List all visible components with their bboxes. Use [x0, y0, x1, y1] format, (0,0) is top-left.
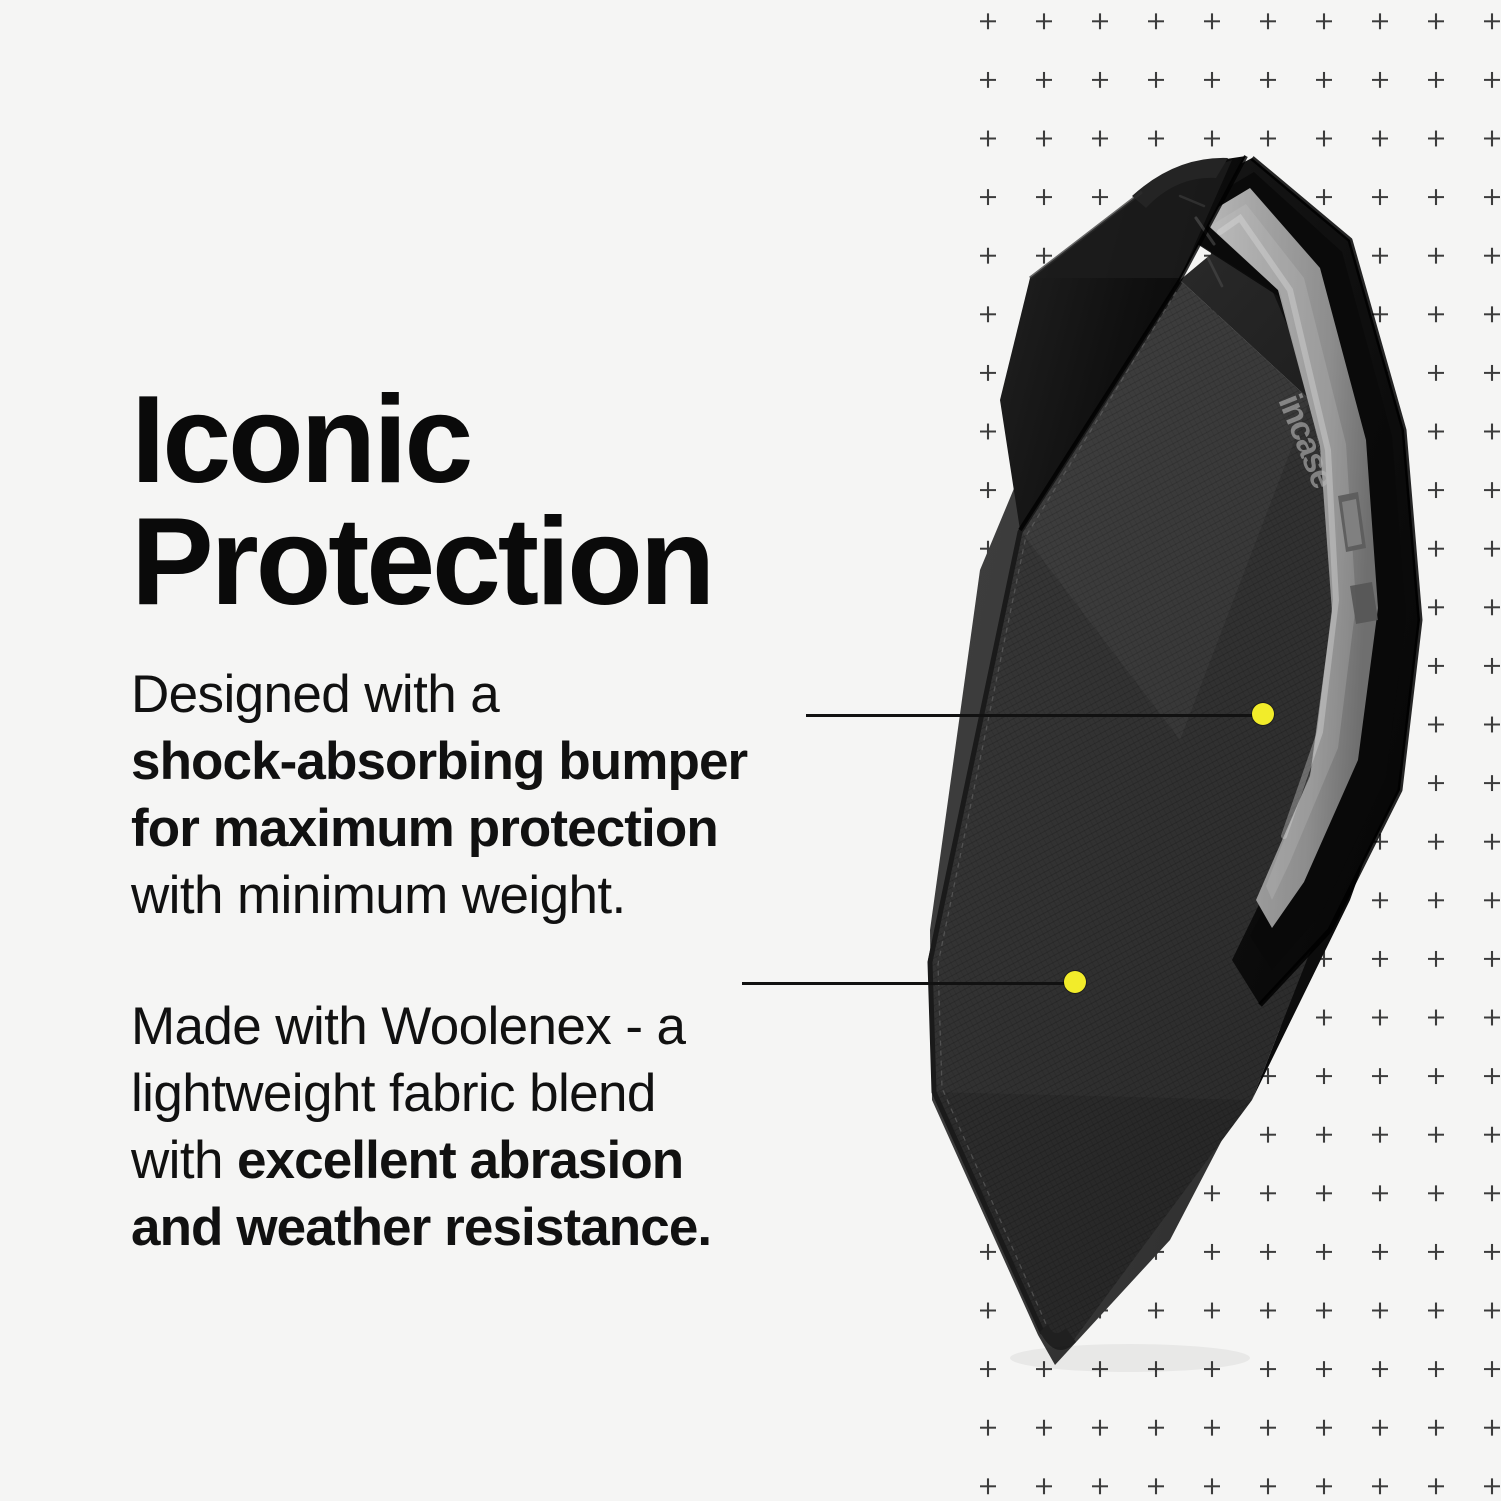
- paragraph-1-line-1: Designed with a: [131, 661, 831, 728]
- paragraph-1-line-4: with minimum weight.: [131, 862, 831, 929]
- callout-dot-bumper: [1252, 703, 1274, 725]
- product-image: incase: [880, 100, 1480, 1400]
- headline-line-2: Protection: [131, 501, 851, 623]
- product-feature-graphic: incase Iconic Protection Designed with a…: [0, 0, 1501, 1501]
- paragraph-2-line-1: Made with Woolenex - a: [131, 993, 831, 1060]
- plus-grid-background: [960, 0, 1501, 1501]
- paragraph-2-line-2: lightweight fabric blend: [131, 1060, 831, 1127]
- paragraph-1-line-2: shock-absorbing bumper: [131, 728, 831, 795]
- feature-paragraph-bumper: Designed with a shock-absorbing bumper f…: [131, 661, 831, 929]
- paragraph-1-line-3: for maximum protection: [131, 795, 831, 862]
- copy-block: Iconic Protection Designed with a shock-…: [131, 0, 891, 1501]
- paragraph-2-line-4: and weather resistance.: [131, 1194, 831, 1261]
- paragraph-2-line-3-plain: with: [131, 1131, 237, 1190]
- feature-paragraph-fabric: Made with Woolenex - a lightweight fabri…: [131, 993, 831, 1261]
- paragraph-2-line-3-bold: excellent abrasion: [237, 1131, 683, 1190]
- paragraph-2-line-3: with excellent abrasion: [131, 1127, 831, 1194]
- headline-line-1: Iconic: [131, 379, 851, 501]
- callout-dot-fabric: [1064, 971, 1086, 993]
- svg-text:incase: incase: [1271, 389, 1343, 494]
- page-title: Iconic Protection: [131, 379, 851, 623]
